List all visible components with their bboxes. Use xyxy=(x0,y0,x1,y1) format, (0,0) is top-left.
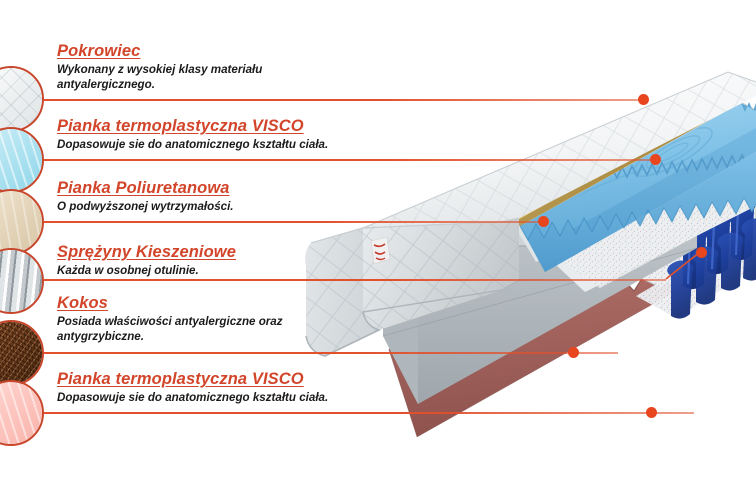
callout-dot-sprezyny[interactable] xyxy=(696,247,707,258)
callout-heading-pokrowiec: Pokrowiec xyxy=(57,42,262,60)
swatch-coconut-fiber-fill xyxy=(0,322,42,384)
callout-desc-visco-bottom: Dopasowuje sie do anatomicznego kształtu… xyxy=(57,391,328,405)
swatch-polyurethane-foam[interactable] xyxy=(0,189,44,255)
callout-poliuretan: Pianka Poliuretanowa O podwyższonej wytr… xyxy=(57,179,234,215)
brand-tag xyxy=(371,237,390,264)
leader-line-visco-bot xyxy=(44,412,694,414)
callout-desc-sprezyny: Każda w osobnej otulinie. xyxy=(57,264,236,278)
leader-line-pokrowiec xyxy=(44,99,644,101)
callout-desc-kokos: Posiada właściwości antyalergiczne oraz … xyxy=(57,315,283,343)
leader-line-poliuretan xyxy=(44,221,546,223)
callout-dot-kokos[interactable] xyxy=(568,347,579,358)
callout-visco-bottom: Pianka termoplastyczna VISCO Dopasowuje … xyxy=(57,370,328,406)
callout-heading-sprezyny: Sprężyny Kieszeniowe xyxy=(57,243,236,261)
callout-heading-visco-top: Pianka termoplastyczna VISCO xyxy=(57,117,328,135)
callout-dot-poliuretan[interactable] xyxy=(538,216,549,227)
callout-heading-poliuretan: Pianka Poliuretanowa xyxy=(57,179,234,197)
swatch-pocket-springs-fill xyxy=(0,250,42,312)
leader-line-visco-top xyxy=(44,159,660,161)
callout-dot-pokrowiec[interactable] xyxy=(638,94,649,105)
swatch-visco-blue-fill xyxy=(0,129,42,191)
swatch-visco-pink[interactable] xyxy=(0,380,44,446)
infographic-root: Pokrowiec Wykonany z wysokiej klasy mate… xyxy=(0,0,756,485)
leader-line-sprezyny xyxy=(44,279,666,281)
callout-pokrowiec: Pokrowiec Wykonany z wysokiej klasy mate… xyxy=(57,42,262,92)
callout-heading-kokos: Kokos xyxy=(57,294,283,312)
callout-heading-visco-bottom: Pianka termoplastyczna VISCO xyxy=(57,370,328,388)
callout-desc-visco-top: Dopasowuje sie do anatomicznego kształtu… xyxy=(57,138,328,152)
callout-dot-visco-top[interactable] xyxy=(650,154,661,165)
swatch-coconut-fiber[interactable] xyxy=(0,320,44,386)
swatch-polyurethane-foam-fill xyxy=(0,191,42,253)
swatch-pocket-springs[interactable] xyxy=(0,248,44,314)
swatch-quilted-cover-fill xyxy=(0,68,42,130)
callout-desc-poliuretan: O podwyższonej wytrzymałości. xyxy=(57,200,234,214)
callout-dot-visco-bot[interactable] xyxy=(646,407,657,418)
callout-kokos: Kokos Posiada właściwości antyalergiczne… xyxy=(57,294,283,344)
swatch-quilted-cover[interactable] xyxy=(0,66,44,132)
callout-sprezyny: Sprężyny Kieszeniowe Każda w osobnej otu… xyxy=(57,243,236,279)
leader-line-kokos xyxy=(44,352,618,354)
callout-desc-pokrowiec: Wykonany z wysokiej klasy materiału anty… xyxy=(57,63,262,91)
callout-visco-top: Pianka termoplastyczna VISCO Dopasowuje … xyxy=(57,117,328,153)
swatch-visco-blue[interactable] xyxy=(0,127,44,193)
swatch-visco-pink-fill xyxy=(0,382,42,444)
